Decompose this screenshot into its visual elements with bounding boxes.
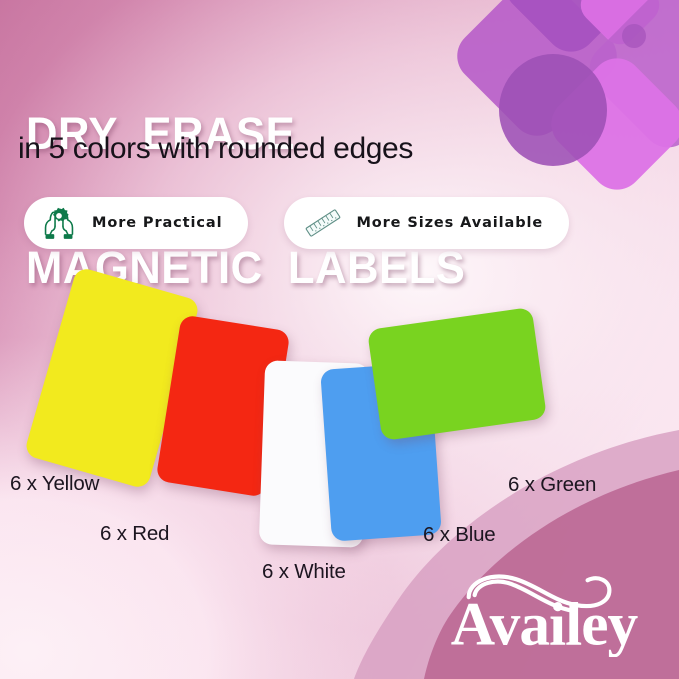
feature-badge-more-sizes[interactable]: More Sizes Available bbox=[284, 197, 569, 249]
hands-holding-gear-icon bbox=[40, 204, 78, 242]
label-blue: 6 x Blue bbox=[423, 523, 495, 547]
wave-dark bbox=[424, 470, 679, 679]
label-white: 6 x White bbox=[262, 560, 346, 584]
feature-badge-label: More Sizes Available bbox=[356, 215, 543, 231]
product-infographic: DRY ERASE MAGNETIC LABELS in 5 colors wi… bbox=[0, 0, 679, 679]
wave-light bbox=[354, 430, 679, 679]
feature-badge-more-practical[interactable]: More Practical bbox=[24, 197, 248, 249]
feature-badge-list: More Practical bbox=[24, 197, 569, 249]
headline-line-2: MAGNETIC LABELS bbox=[26, 246, 465, 291]
diamond-shape-right-back bbox=[579, 0, 679, 158]
logo-flourish-icon bbox=[469, 576, 610, 610]
diamond-shape-bottom-magenta bbox=[541, 48, 679, 201]
label-green: 6 x Green bbox=[508, 473, 596, 497]
white-card bbox=[259, 360, 369, 548]
subtitle: in 5 colors with rounded edges bbox=[18, 132, 413, 166]
decorative-diamond-cluster bbox=[455, 0, 679, 206]
diamond-shape-top bbox=[495, 0, 648, 62]
diamond-shape-right-small bbox=[573, 0, 666, 52]
circle-shape-large bbox=[499, 54, 607, 166]
label-yellow: 6 x Yellow bbox=[10, 472, 99, 496]
logo-wordmark: Availey bbox=[451, 591, 639, 657]
feature-badge-label: More Practical bbox=[92, 215, 222, 231]
circle-shape-small bbox=[622, 24, 646, 48]
label-red: 6 x Red bbox=[100, 522, 169, 546]
diamond-shape-large-back bbox=[446, 0, 627, 147]
blue-card bbox=[320, 362, 442, 541]
ruler-icon bbox=[300, 204, 346, 242]
brand-logo-availey: Availey bbox=[435, 561, 653, 657]
